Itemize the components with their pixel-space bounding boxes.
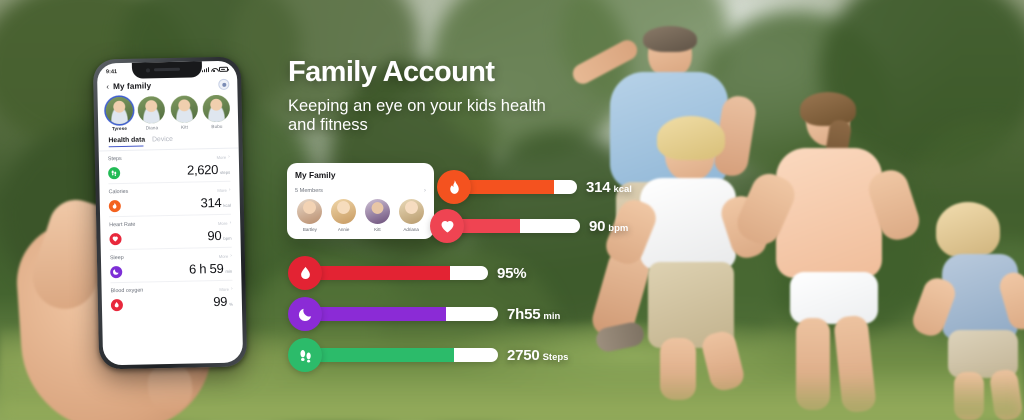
metric-unit: steps (220, 170, 230, 175)
blood-drop-icon (111, 299, 123, 311)
progress-track (462, 180, 577, 194)
chevron-right-icon: › (229, 220, 231, 226)
flame-icon (109, 200, 121, 212)
metric-label: Blood oxygen (111, 288, 144, 295)
avatar-name: Bartley (295, 227, 325, 232)
metric-more-link[interactable]: More› (218, 220, 231, 226)
members-count-label: 5 Members (295, 188, 323, 194)
account-avatar-icon[interactable] (218, 79, 229, 90)
progress-value: 314 (586, 179, 610, 196)
avatar (105, 97, 133, 125)
flame-icon (437, 170, 471, 204)
member-name: Diana (138, 125, 167, 131)
progress-bar-heart: 90bpm (430, 209, 628, 243)
more-label: More (217, 187, 227, 192)
metric-value: 99 (213, 294, 227, 309)
tab-health-data[interactable]: Health data (108, 137, 145, 148)
battery-icon (219, 67, 228, 72)
metric-more-link[interactable]: More› (217, 187, 230, 193)
progress-unit: bpm (608, 223, 628, 234)
metric-row-blood-oxygen[interactable]: Blood oxygenMore›99% (110, 281, 233, 316)
more-label: More (219, 253, 229, 258)
progress-label: 90bpm (589, 218, 628, 235)
father-hair (643, 26, 697, 52)
progress-label: 7h55min (507, 306, 560, 323)
progress-fill (313, 307, 446, 321)
metric-unit: bpm (223, 236, 231, 241)
heart-icon (109, 233, 121, 245)
chevron-right-icon: › (229, 187, 231, 193)
moon-icon (110, 266, 122, 278)
avatar-name: Annie (329, 227, 359, 232)
family-card-title: My Family (295, 170, 426, 180)
more-label: More (218, 220, 228, 225)
member-name: Bubu (203, 124, 232, 130)
progress-bar-moon: 7h55min (288, 297, 560, 331)
progress-unit: Steps (543, 352, 569, 363)
more-label: More (219, 286, 229, 291)
tab-device[interactable]: Device (152, 136, 173, 146)
metric-unit: min (225, 269, 232, 274)
tab-bar: Health dataDevice (98, 129, 238, 148)
metric-label: Sleep (110, 255, 124, 261)
footprints-icon (108, 167, 120, 179)
app-header: ‹ My family (97, 78, 237, 96)
more-label: More (217, 154, 227, 159)
phone-mockup: 9:41 ‹ My family TyreseDianaKittBubu Hea… (93, 56, 247, 369)
chevron-right-icon: › (231, 286, 233, 292)
family-avatar-2[interactable]: Annie (329, 199, 359, 232)
metric-label: Heart Rate (109, 222, 135, 229)
progress-track (313, 266, 488, 280)
family-avatar-list: BartleyAnnieKittAdriana (295, 199, 426, 232)
metric-unit: % (229, 302, 233, 307)
member-avatar-list: TyreseDianaKittBubu (98, 93, 239, 132)
progress-track (313, 348, 498, 362)
progress-track (455, 219, 580, 233)
chevron-right-icon: › (228, 154, 230, 160)
moon-icon (288, 297, 322, 331)
avatar-name: Adriana (396, 227, 426, 232)
blood-drop-icon (288, 256, 322, 290)
progress-bar-flame: 314kcal (437, 170, 632, 204)
page-title: My family (113, 81, 151, 91)
family-avatar-4[interactable]: Adriana (396, 199, 426, 232)
avatar (203, 95, 231, 123)
progress-value: 95% (497, 265, 526, 282)
girl-hair (936, 202, 1000, 258)
wifi-icon (211, 67, 217, 72)
phone-screen: 9:41 ‹ My family TyreseDianaKittBubu Hea… (97, 61, 243, 366)
family-members-row[interactable]: 5 Members › (295, 187, 426, 194)
progress-bar-blood-drop: 95% (288, 256, 529, 290)
mother-hair (800, 92, 856, 126)
progress-value: 7h55 (507, 306, 540, 323)
progress-unit: kcal (613, 184, 632, 195)
progress-track (313, 307, 498, 321)
avatar-name: Kitt (363, 227, 393, 232)
metric-row-heart-rate[interactable]: Heart RateMore›90bpm (109, 215, 232, 251)
metric-row-sleep[interactable]: SleepMore›6 h 59min (110, 248, 233, 284)
footprints-icon (288, 338, 322, 372)
metric-value: 6 h 59 (189, 261, 224, 277)
health-metric-list: StepsMore›2,620stepsCaloriesMore›314kcal… (99, 149, 242, 316)
progress-unit: min (543, 311, 560, 322)
chevron-right-icon[interactable]: › (424, 187, 426, 194)
member-avatar-1[interactable]: Tyrese (105, 97, 134, 132)
metric-label: Calories (108, 189, 128, 195)
member-avatar-3[interactable]: Kitt (170, 95, 199, 130)
metric-row-calories[interactable]: CaloriesMore›314kcal (108, 182, 231, 218)
chevron-left-icon[interactable]: ‹ (106, 83, 109, 91)
member-avatar-2[interactable]: Diana (137, 96, 166, 131)
mother-top (776, 148, 882, 278)
avatar (297, 199, 322, 224)
progress-value: 90 (589, 218, 605, 235)
member-avatar-4[interactable]: Bubu (202, 95, 231, 130)
avatar (170, 95, 198, 123)
metric-more-link[interactable]: More› (219, 253, 232, 259)
family-avatar-1[interactable]: Bartley (295, 199, 325, 232)
mother-shorts (790, 272, 878, 324)
page-heading: Family Account (288, 58, 548, 87)
progress-label: 95% (497, 265, 529, 282)
page-subheading: Keeping an eye on your kids health and f… (288, 97, 548, 136)
avatar (331, 199, 356, 224)
metric-row-steps[interactable]: StepsMore›2,620steps (108, 149, 231, 185)
member-name: Tyrese (105, 126, 134, 132)
metric-more-link[interactable]: More› (217, 154, 230, 160)
metric-more-link[interactable]: More› (219, 286, 232, 292)
progress-fill (455, 219, 520, 233)
progress-fill (313, 348, 454, 362)
progress-fill (462, 180, 554, 194)
metric-unit: kcal (223, 203, 231, 208)
my-family-card[interactable]: My Family 5 Members › BartleyAnnieKittAd… (287, 163, 434, 239)
progress-label: 314kcal (586, 179, 632, 196)
boy-hair (657, 116, 725, 160)
signal-bars-icon (202, 67, 209, 72)
heart-icon (430, 209, 464, 243)
family-avatar-3[interactable]: Kitt (363, 199, 393, 232)
chevron-right-icon: › (230, 253, 232, 259)
phone-body: 9:41 ‹ My family TyreseDianaKittBubu Hea… (93, 56, 247, 369)
progress-label: 2750Steps (507, 347, 568, 364)
progress-fill (313, 266, 450, 280)
status-time: 9:41 (106, 69, 117, 75)
avatar (399, 199, 424, 224)
metric-value: 314 (200, 195, 221, 210)
member-name: Kitt (170, 125, 199, 131)
headline-block: Family Account Keeping an eye on your ki… (288, 58, 548, 136)
avatar (138, 96, 166, 124)
avatar (365, 199, 390, 224)
metric-value: 2,620 (187, 162, 218, 178)
metric-label: Steps (108, 156, 122, 162)
progress-bar-footprints: 2750Steps (288, 338, 568, 372)
status-bar: 9:41 (97, 61, 237, 81)
metric-value: 90 (207, 228, 221, 243)
progress-value: 2750 (507, 347, 540, 364)
